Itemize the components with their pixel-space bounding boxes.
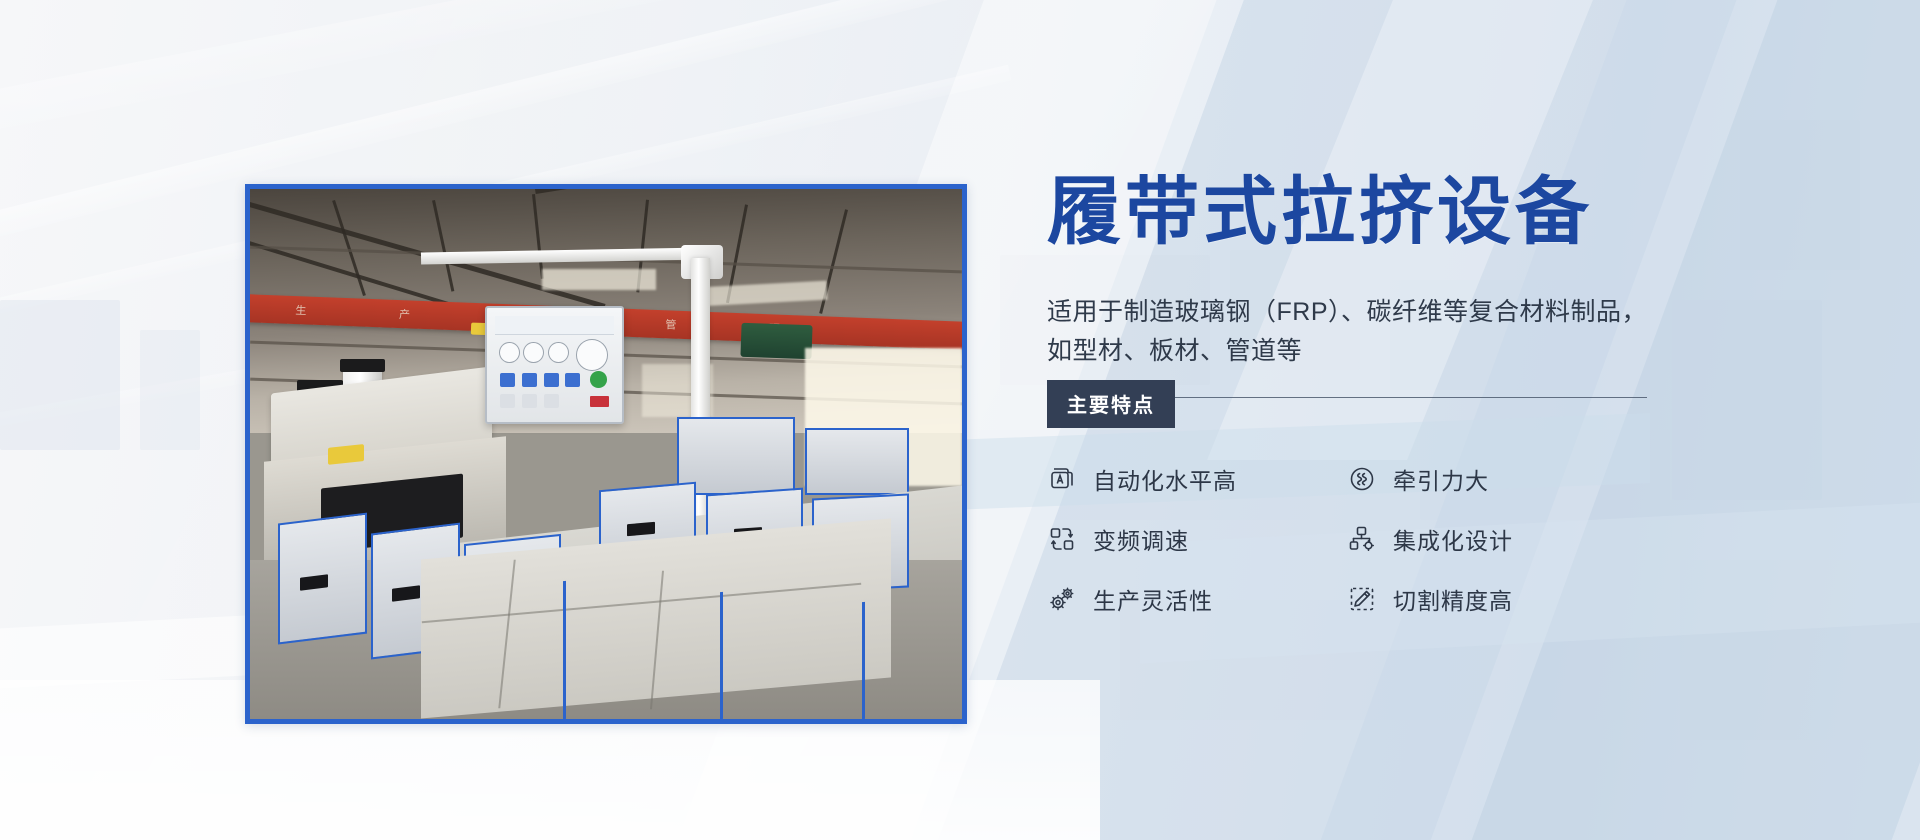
photo-panel-button [544,373,559,388]
feature-item-automation[interactable]: 自动化水平高 [1047,462,1347,496]
feature-label: 牵引力大 [1393,462,1489,496]
integrated-design-icon [1347,524,1377,554]
feature-item-integrated[interactable]: 集成化设计 [1347,522,1647,556]
photo-panel-switch [500,394,515,408]
feature-label: 集成化设计 [1393,522,1513,556]
photo-panel-start-button [590,371,608,388]
photo-panel-button [500,373,515,388]
background-machine-silhouette [140,330,200,450]
photo-panel-button [522,373,537,388]
photo-cabinet-vent [627,522,655,536]
photo-light-strip [542,269,656,290]
photo-panel-stop-button [590,396,609,406]
feature-item-cut-precision[interactable]: 切割精度高 [1347,582,1647,616]
feature-item-frequency[interactable]: 变频调速 [1047,522,1347,556]
feature-item-flexibility[interactable]: 生产灵活性 [1047,582,1347,616]
photo-control-panel [485,306,624,424]
background-machine-silhouette [1740,120,1860,270]
background-machine-silhouette [1672,300,1822,500]
gears-icon [1047,584,1077,614]
photo-panel-switch [522,394,537,408]
photo-frame-rail [862,602,865,719]
photo-panel-gauge [499,342,520,363]
photo-frame-rail [720,592,723,719]
product-description: 适用于制造玻璃钢（FRP）、碳纤维等复合材料制品，如型材、板材、管道等 [1047,293,1647,371]
page-title: 履带式拉挤设备 [1047,175,1667,249]
feature-label: 变频调速 [1093,522,1189,556]
precision-cut-pencil-icon [1347,584,1377,614]
photo-panel-gauge [548,342,569,363]
photo-panel-brandplate [495,316,614,335]
background-machine-silhouette [1680,560,1920,740]
product-hero-banner: 生 产 严 管 理 [0,0,1920,840]
feature-item-traction[interactable]: 牵引力大 [1347,462,1647,496]
feature-label: 切割精度高 [1393,582,1513,616]
feature-list: 自动化水平高 牵引力大 [1047,462,1667,616]
photo-silo-cap [340,359,386,373]
photo-panel-button [565,373,580,388]
background-machine-silhouette [0,300,120,450]
photo-crane-hoist [741,323,813,360]
photo-panel-gauge [523,342,544,363]
automation-a-icon [1047,464,1077,494]
feature-label: 自动化水平高 [1093,462,1237,496]
status-badge: 主要特点 [1047,380,1175,428]
photo-panel-switch [544,394,559,408]
product-photo-image: 生 产 严 管 理 [250,189,962,719]
traction-waves-icon [1347,464,1377,494]
product-photo: 生 产 严 管 理 [245,184,967,724]
photo-panel-dial [576,339,608,371]
feature-label: 生产灵活性 [1093,582,1213,616]
photo-frame-rail [563,581,566,719]
frequency-convert-icon [1047,524,1077,554]
photo-far-machine [805,428,909,496]
background-machine-silhouette [1120,600,1620,720]
banner-content: 履带式拉挤设备 适用于制造玻璃钢（FRP）、碳纤维等复合材料制品，如型材、板材、… [1047,175,1667,616]
